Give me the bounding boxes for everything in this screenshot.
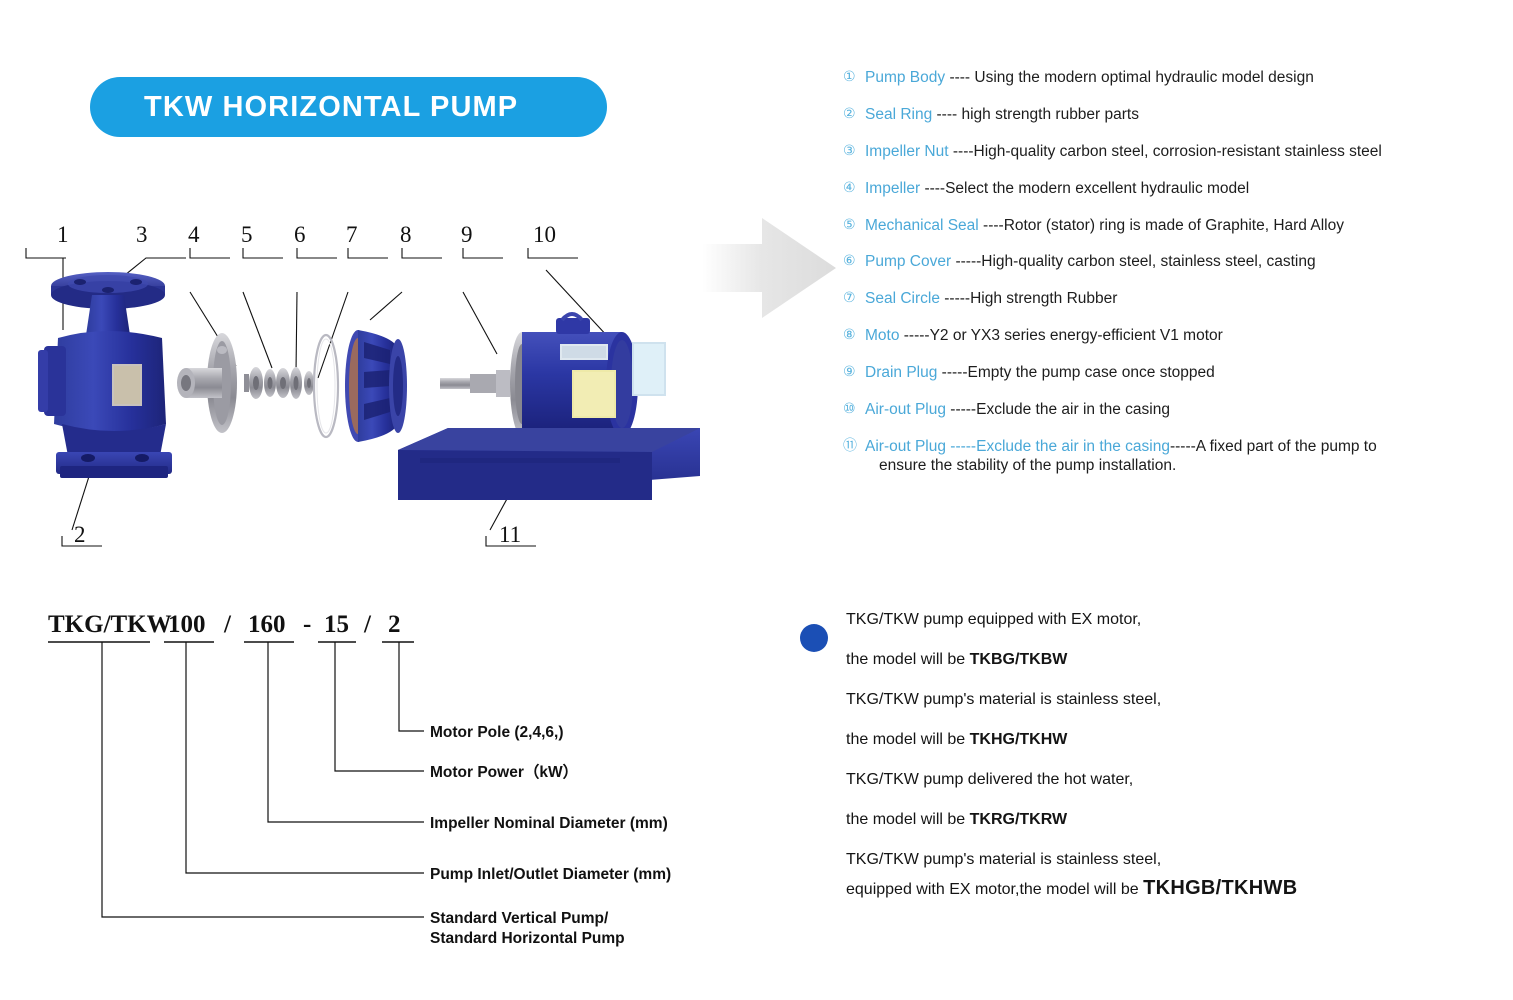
callout-6: 6: [294, 222, 306, 247]
callout-4: 4: [188, 222, 200, 247]
legend-separator: ----: [920, 180, 945, 197]
legend-item-2: ② Seal Ring ---- high strength rubber pa…: [843, 105, 1503, 124]
pump-cover-part: [345, 330, 407, 442]
code-separator-2: -: [303, 611, 311, 638]
note-model-code: TKBG/TKBW: [970, 651, 1068, 668]
note-line-8: equipped with EX motor,the model will be…: [846, 878, 1490, 898]
note-text: TKG/TKW pump delivered the hot water,: [846, 771, 1133, 788]
note-line-2: the model will be TKBG/TKBW: [846, 652, 1490, 668]
legend-item-text: Drain Plug -----Empty the pump case once…: [865, 363, 1215, 382]
flow-arrow: [700, 210, 850, 330]
legend-number-icon: ④: [843, 179, 865, 198]
legend-description: Select the modern excellent hydraulic mo…: [945, 180, 1249, 197]
legend-description-blue: Exclude the air in the casing: [976, 438, 1170, 455]
legend-part-name: Impeller Nut: [865, 143, 949, 160]
pump-body-part: [38, 272, 172, 478]
legend-description: Exclude the air in the casing: [976, 401, 1170, 418]
note-model-code: TKRG/TKRW: [970, 811, 1067, 828]
legend-part-name: Moto: [865, 327, 899, 344]
legend-separator: ----: [979, 217, 1004, 234]
legend-number-icon: ②: [843, 105, 865, 124]
code-segment-series: TKG/TKW: [48, 611, 172, 638]
legend-item-text: Impeller ----Select the modern excellent…: [865, 179, 1249, 198]
legend-description: High-quality carbon steel, corrosion-res…: [974, 143, 1382, 160]
legend-part-name: Mechanical Seal: [865, 217, 979, 234]
legend-number-icon: ⑪: [843, 437, 865, 456]
callout-1: 1: [57, 222, 69, 247]
legend-number-icon: ⑥: [843, 252, 865, 271]
legend-item-text: Impeller Nut ----High-quality carbon ste…: [865, 142, 1382, 161]
legend-separator: -----: [946, 438, 976, 455]
legend-description: High strength Rubber: [970, 290, 1117, 307]
legend-item-10: ⑩ Air-out Plug -----Exclude the air in t…: [843, 400, 1503, 419]
legend-item-text: Air-out Plug -----Exclude the air in the…: [865, 400, 1170, 419]
legend-separator: ----: [949, 143, 974, 160]
note-text: equipped with EX motor,the model will be: [846, 881, 1143, 898]
legend-part-name: Seal Ring: [865, 106, 932, 123]
callout-9: 9: [461, 222, 473, 247]
legend-part-name: Pump Cover: [865, 253, 951, 270]
legend-number-icon: ⑨: [843, 363, 865, 382]
legend-part-name: Drain Plug: [865, 364, 937, 381]
nomenclature-leader-lines: [102, 642, 424, 917]
notes-lines: TKG/TKW pump equipped with EX motor, the…: [800, 612, 1490, 898]
nomenclature-label-standard-line2: Standard Horizontal Pump: [430, 930, 625, 947]
model-nomenclature-diagram: TKG/TKW 100 / 160 - 15 / 2 Motor Pole (2…: [0, 590, 740, 970]
note-text: the model will be: [846, 811, 970, 828]
nomenclature-label-inlet: Pump Inlet/Outlet Diameter (mm): [430, 866, 671, 883]
note-line-1: TKG/TKW pump equipped with EX motor,: [846, 612, 1490, 628]
nomenclature-label-pole: Motor Pole (2,4,6,): [430, 724, 564, 741]
legend-item-4: ④ Impeller ----Select the modern excelle…: [843, 179, 1503, 198]
legend-item-3: ③ Impeller Nut ----High-quality carbon s…: [843, 142, 1503, 161]
code-segment-pole: 2: [388, 611, 401, 638]
note-model-code-highlight: TKHGB/TKHWB: [1143, 877, 1297, 899]
legend-part-name: Impeller: [865, 180, 920, 197]
seal-circle-part: [314, 335, 338, 437]
legend-item-text: Moto -----Y2 or YX3 series energy-effici…: [865, 326, 1223, 345]
legend-description-tail: -----A fixed part of the pump to: [1170, 438, 1377, 455]
legend-number-icon: ⑧: [843, 326, 865, 345]
note-text: the model will be: [846, 731, 970, 748]
legend-item-text: Pump Body ---- Using the modern optimal …: [865, 68, 1314, 87]
base-plate-part: [398, 428, 700, 500]
legend-item-7: ⑦ Seal Circle -----High strength Rubber: [843, 289, 1503, 308]
callout-2: 2: [74, 522, 86, 547]
legend-item-text: Seal Circle -----High strength Rubber: [865, 289, 1117, 308]
legend-description: Y2 or YX3 series energy-efficient V1 mot…: [930, 327, 1223, 344]
note-text: TKG/TKW pump's material is stainless ste…: [846, 851, 1161, 868]
legend-separator: -----: [951, 253, 981, 270]
model-variant-notes: TKG/TKW pump equipped with EX motor, the…: [800, 612, 1490, 922]
legend-separator: -----: [940, 290, 970, 307]
code-segment-power: 15: [324, 611, 349, 638]
legend-separator: ----: [932, 106, 961, 123]
code-segment-impeller: 160: [248, 611, 286, 638]
legend-item-6: ⑥ Pump Cover -----High-quality carbon st…: [843, 252, 1503, 271]
legend-part-name: Pump Body: [865, 69, 945, 86]
legend-part-name: Air-out Plug: [865, 438, 946, 455]
note-line-7: TKG/TKW pump's material is stainless ste…: [846, 852, 1490, 868]
legend-item-5: ⑤ Mechanical Seal ----Rotor (stator) rin…: [843, 216, 1503, 235]
page-title: TKW HORIZONTAL PUMP: [90, 91, 518, 124]
mechanical-seal-parts: [244, 367, 314, 399]
callout-11: 11: [499, 522, 521, 547]
legend-separator: -----: [946, 401, 976, 418]
legend-description: Rotor (stator) ring is made of Graphite,…: [1004, 217, 1344, 234]
note-text: TKG/TKW pump's material is stainless ste…: [846, 691, 1161, 708]
legend-description: High-quality carbon steel, stainless ste…: [981, 253, 1315, 270]
legend-part-name: Air-out Plug: [865, 401, 946, 418]
note-text: TKG/TKW pump equipped with EX motor,: [846, 611, 1141, 628]
legend-separator: -----: [899, 327, 929, 344]
legend-item-11: ⑪ Air-out Plug -----Exclude the air in t…: [843, 437, 1503, 476]
legend-separator: -----: [937, 364, 967, 381]
legend-number-icon: ⑤: [843, 216, 865, 235]
note-model-code: TKHG/TKHW: [970, 731, 1068, 748]
legend-number-icon: ⑩: [843, 400, 865, 419]
note-line-5: TKG/TKW pump delivered the hot water,: [846, 772, 1490, 788]
page-title-banner: TKW HORIZONTAL PUMP: [90, 77, 607, 137]
nomenclature-label-power: Motor Power（kW）: [430, 763, 578, 781]
legend-item-text: Air-out Plug -----Exclude the air in the…: [865, 437, 1377, 476]
code-segment-inlet: 100: [168, 611, 206, 638]
exploded-pump-diagram: 1 3 4 5 6 7 8 9 10 2 11: [0, 200, 720, 580]
legend-item-text: Seal Ring ---- high strength rubber part…: [865, 105, 1139, 124]
legend-number-icon: ①: [843, 68, 865, 87]
code-separator-1: /: [223, 611, 232, 638]
legend-item-8: ⑧ Moto -----Y2 or YX3 series energy-effi…: [843, 326, 1503, 345]
legend-number-icon: ⑦: [843, 289, 865, 308]
nomenclature-label-impeller: Impeller Nominal Diameter (mm): [430, 815, 668, 832]
legend-description-line2: ensure the stability of the pump install…: [865, 456, 1377, 475]
impeller-part: [177, 333, 237, 433]
callout-5: 5: [241, 222, 253, 247]
callout-10: 10: [533, 222, 556, 247]
nomenclature-label-standard-line1: Standard Vertical Pump/: [430, 910, 609, 927]
code-separator-3: /: [363, 611, 372, 638]
legend-separator: ----: [945, 69, 974, 86]
callout-3: 3: [136, 222, 148, 247]
legend-number-icon: ③: [843, 142, 865, 161]
legend-item-text: Mechanical Seal ----Rotor (stator) ring …: [865, 216, 1344, 235]
legend-description: high strength rubber parts: [961, 106, 1139, 123]
note-line-4: the model will be TKHG/TKHW: [846, 732, 1490, 748]
legend-item-text: Pump Cover -----High-quality carbon stee…: [865, 252, 1316, 271]
note-line-3: TKG/TKW pump's material is stainless ste…: [846, 692, 1490, 708]
note-line-6: the model will be TKRG/TKRW: [846, 812, 1490, 828]
note-text: the model will be: [846, 651, 970, 668]
legend-description: Using the modern optimal hydraulic model…: [974, 69, 1313, 86]
legend-item-9: ⑨ Drain Plug -----Empty the pump case on…: [843, 363, 1503, 382]
callout-7: 7: [346, 222, 358, 247]
legend-description: Empty the pump case once stopped: [968, 364, 1215, 381]
callout-8: 8: [400, 222, 412, 247]
legend-item-1: ① Pump Body ---- Using the modern optima…: [843, 68, 1503, 87]
parts-legend-list: ① Pump Body ---- Using the modern optima…: [843, 68, 1503, 493]
legend-part-name: Seal Circle: [865, 290, 940, 307]
bullet-point-icon: [800, 624, 828, 652]
